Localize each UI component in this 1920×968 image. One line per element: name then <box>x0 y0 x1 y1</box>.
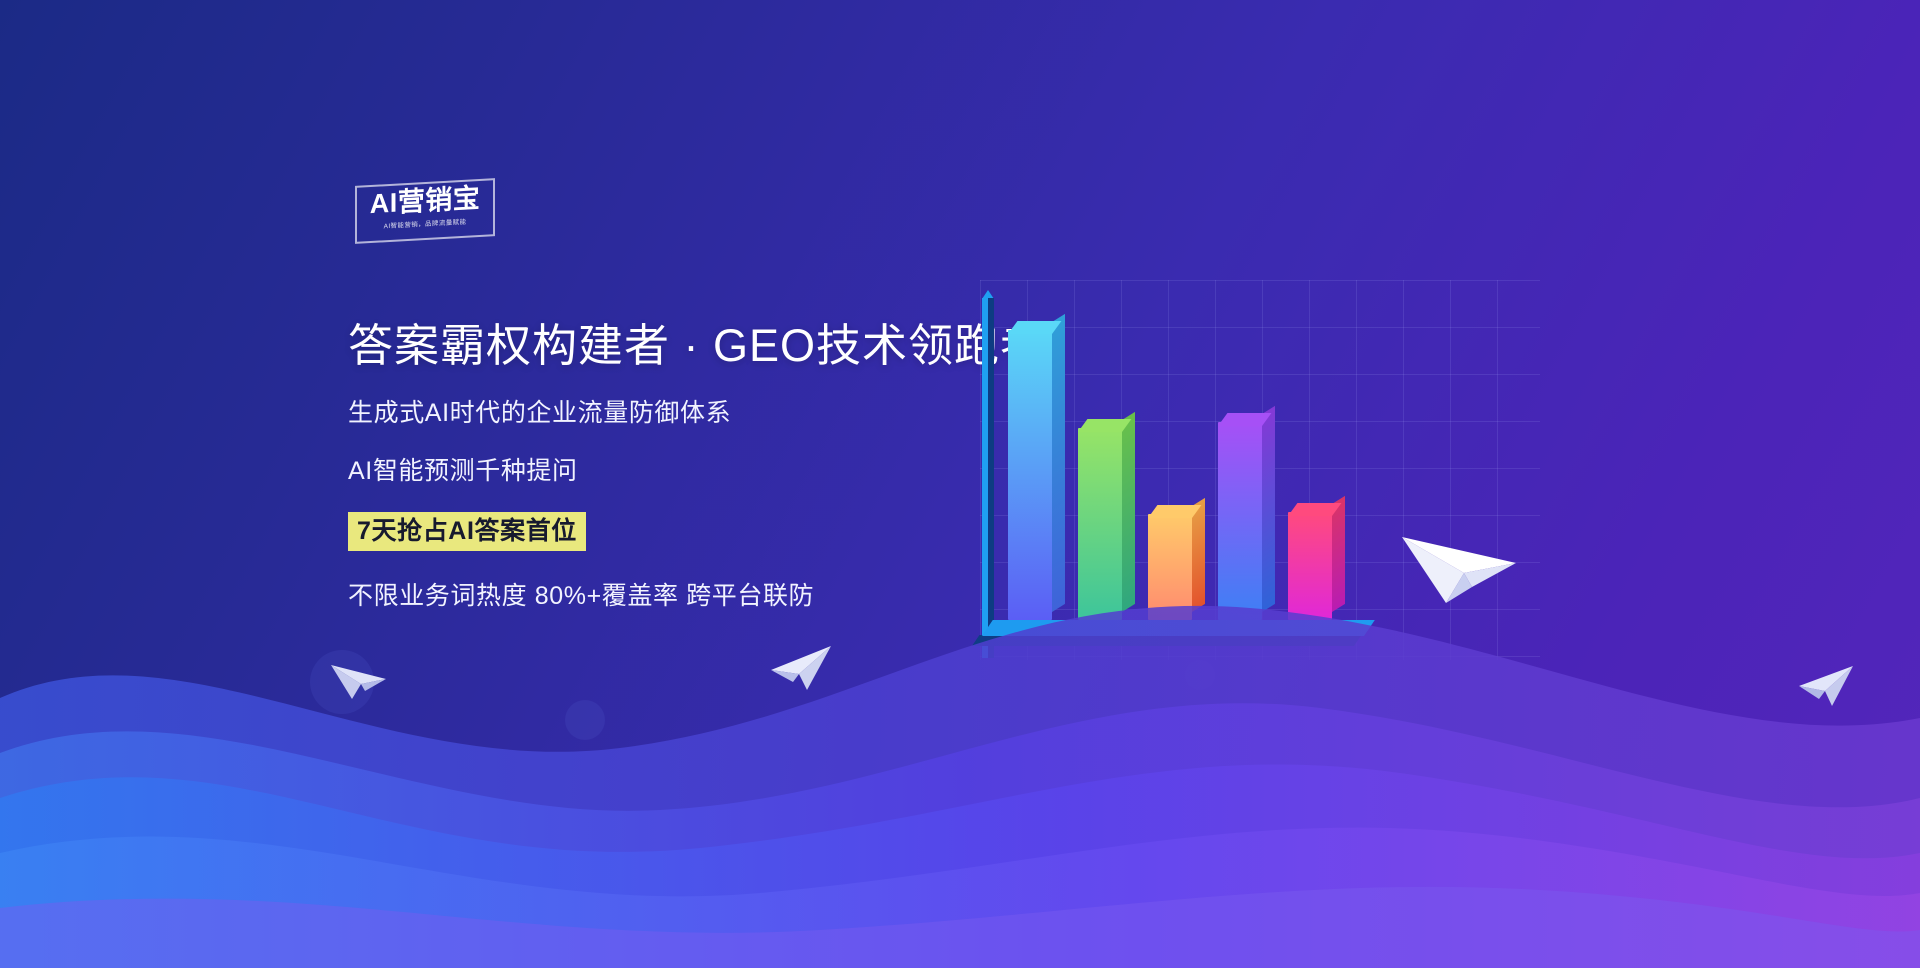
paper-plane-icon <box>1795 660 1855 708</box>
paper-plane-icon <box>765 640 833 692</box>
paper-plane-icon <box>1400 515 1518 607</box>
hero-banner: AI营销宝 AI智能营销，品牌流量赋能 答案霸权构建者 · GEO技术领跑者 生… <box>0 0 1920 968</box>
brand-logo[interactable]: AI营销宝 AI智能营销，品牌流量赋能 <box>355 182 495 240</box>
status-badge: 7天抢占AI答案首位 <box>348 512 586 551</box>
wave-decoration <box>0 548 1920 968</box>
paper-plane-icon <box>330 655 388 701</box>
